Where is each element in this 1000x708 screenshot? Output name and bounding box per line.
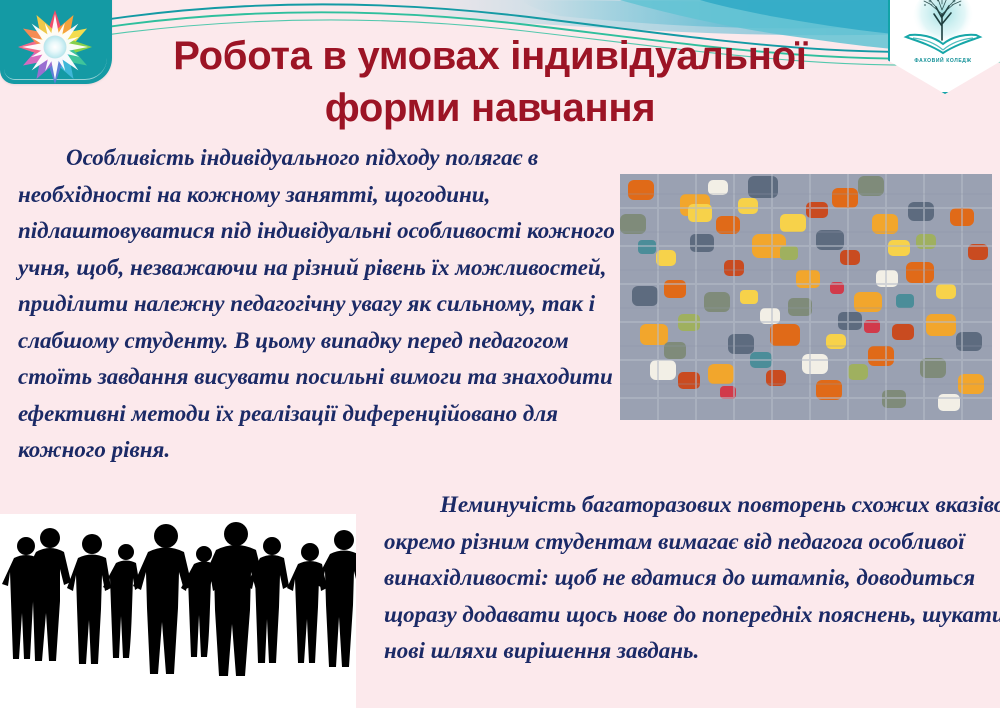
presentation-slide: Фаховий коледж Робота в умовах індивідуа… <box>0 0 1000 708</box>
left-emblem-badge <box>0 0 112 84</box>
body-paragraph-1: Особливість індивідуального підходу поля… <box>18 140 638 469</box>
college-logo-badge: Фаховий коледж <box>888 0 998 92</box>
starburst-emblem-icon <box>14 6 96 88</box>
slide-title: Робота в умовах індивідуальної форми нав… <box>120 30 860 134</box>
body-paragraph-2: Неминучість багаторазових повторень схож… <box>384 487 1000 670</box>
college-badge-caption: Фаховий коледж <box>888 58 998 64</box>
tree-over-book-icon <box>888 0 998 92</box>
jigsaw-puzzle-pieces-photo <box>620 174 992 420</box>
people-silhouettes-photo <box>0 514 356 708</box>
